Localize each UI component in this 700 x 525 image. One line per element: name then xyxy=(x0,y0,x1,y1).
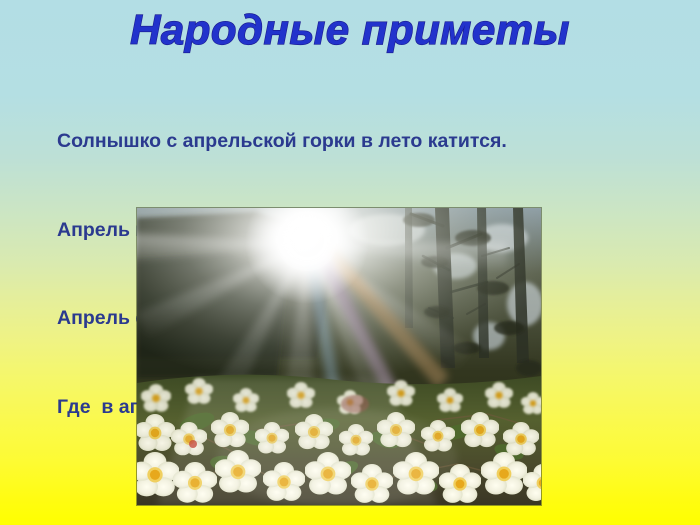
photo-artwork xyxy=(137,208,541,505)
sun-center xyxy=(281,214,333,266)
presentation-slide: Народные приметы Солнышко с апрельской г… xyxy=(0,0,700,525)
folk-saying-line: Солнышко с апрельской горки в лето катит… xyxy=(57,127,657,157)
page-title: Народные приметы xyxy=(0,8,700,52)
spring-forest-photo xyxy=(137,208,541,505)
light-bloom-lower xyxy=(217,408,457,505)
